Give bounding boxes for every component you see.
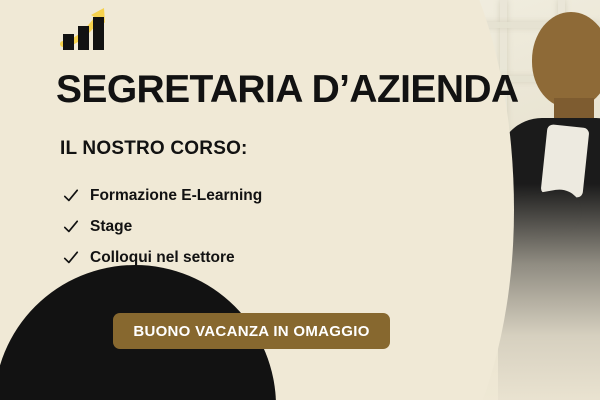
check-icon xyxy=(62,250,80,266)
list-item-label: Colloqui nel settore xyxy=(90,249,235,267)
list-item-label: Stage xyxy=(90,218,132,236)
feature-list: Formazione E-Learning Stage Colloqui nel… xyxy=(62,180,262,273)
list-item: Stage xyxy=(62,211,262,242)
growth-bar-chart-arrow-icon xyxy=(60,4,108,52)
subheading: IL NOSTRO CORSO: xyxy=(60,138,248,160)
check-icon xyxy=(62,188,80,204)
list-item: Formazione E-Learning xyxy=(62,180,262,211)
cta-button[interactable]: BUONO VACANZA IN OMAGGIO xyxy=(113,313,390,349)
page-title: SEGRETARIA D’AZIENDA xyxy=(56,68,519,112)
check-icon xyxy=(62,219,80,235)
hero-photo xyxy=(370,0,600,400)
photo-curve-mask xyxy=(370,0,514,400)
poster-canvas: SEGRETARIA D’AZIENDA IL NOSTRO CORSO: Fo… xyxy=(0,0,600,400)
list-item-label: Formazione E-Learning xyxy=(90,187,262,205)
list-item: Colloqui nel settore xyxy=(62,242,262,273)
